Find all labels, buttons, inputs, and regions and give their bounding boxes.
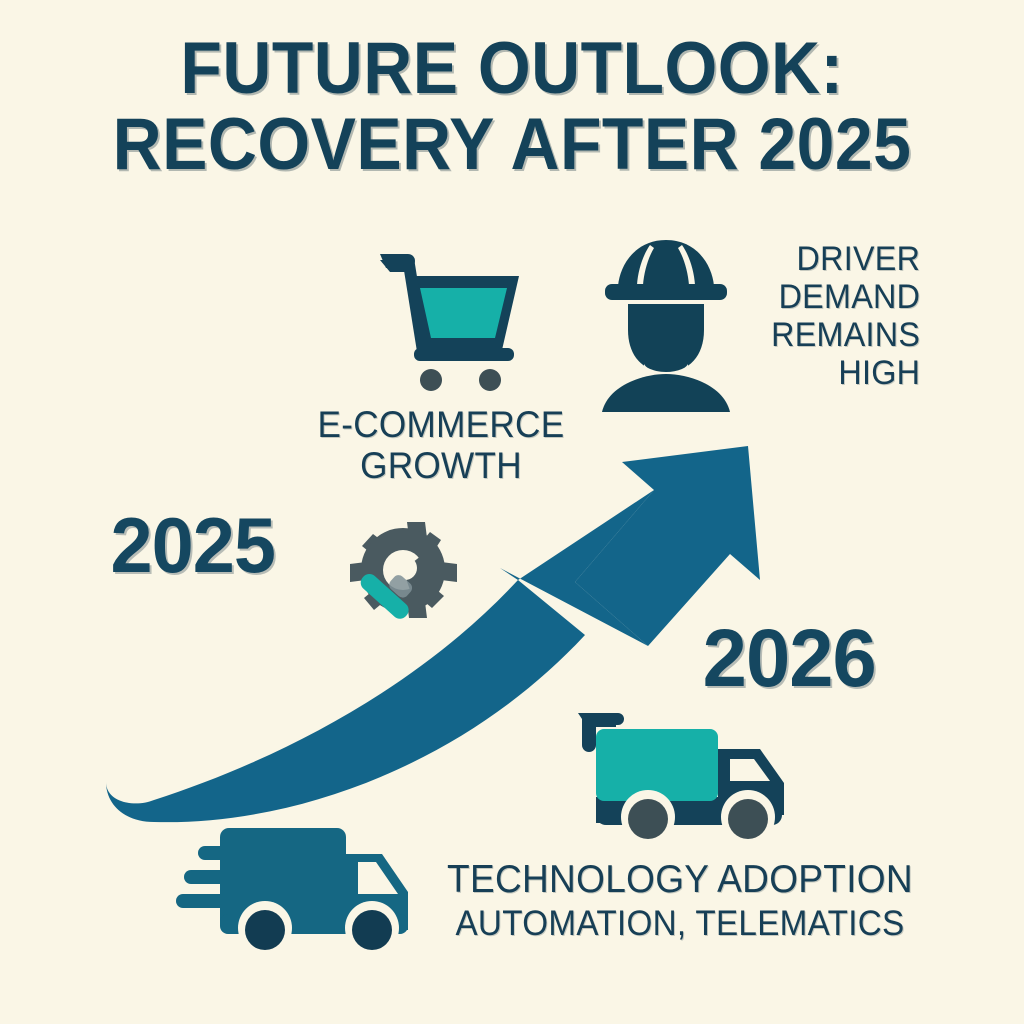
callout-driver-line-1: DRIVER	[796, 240, 920, 278]
callout-tech-line-1: TECHNOLOGY ADOPTION	[443, 858, 918, 902]
year-label-end: 2026	[703, 612, 876, 706]
callout-driver-line-2: DEMAND	[779, 278, 921, 316]
gear-wrench-icon	[336, 516, 466, 638]
delivery-truck-teal-icon	[572, 705, 800, 851]
infographic-canvas: FUTURE OUTLOOK: RECOVERY AFTER 2025	[0, 0, 1024, 1024]
callout-ecommerce-line-1: E-COMMERCE	[318, 404, 565, 445]
callout-technology-adoption: TECHNOLOGY ADOPTION AUTOMATION, TELEMATI…	[443, 858, 918, 943]
title-line-1: FUTURE OUTLOOK:	[36, 34, 988, 104]
shopping-cart-icon	[378, 250, 526, 392]
year-label-start: 2025	[111, 500, 275, 591]
callout-ecommerce: E-COMMERCE GROWTH	[303, 404, 579, 487]
callout-driver-line-4: HIGH	[838, 354, 920, 392]
fast-delivery-truck-icon	[176, 818, 426, 968]
callout-tech-line-2: AUTOMATION, TELEMATICS	[443, 904, 918, 943]
construction-worker-icon	[596, 234, 736, 412]
callout-ecommerce-line-2: GROWTH	[360, 445, 522, 486]
title-line-2: RECOVERY AFTER 2025	[36, 110, 988, 180]
callout-driver-demand: DRIVER DEMAND REMAINS HIGH	[740, 240, 921, 392]
callout-driver-line-3: REMAINS	[771, 316, 920, 354]
page-title: FUTURE OUTLOOK: RECOVERY AFTER 2025	[0, 34, 1024, 180]
